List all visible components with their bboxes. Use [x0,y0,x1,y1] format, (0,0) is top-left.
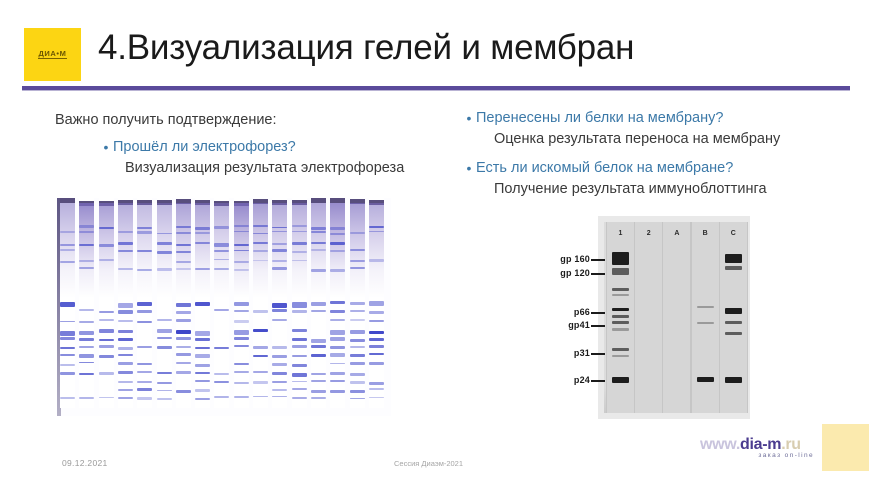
gel-band [234,310,249,312]
gel-band [253,329,268,332]
right-answer-1: Оценка результата переноса на мембрану [494,129,862,149]
diam-logo: ДИА•М [24,28,81,81]
gel-lane [272,198,287,408]
gel-band [369,345,384,348]
gel-band [292,338,307,341]
gel-band [214,396,229,397]
gel-band [137,388,152,390]
gel-lane [137,198,152,408]
gel-band [214,347,229,349]
gel-band [234,244,249,247]
gel-band [214,309,229,311]
blot-band [612,315,629,318]
gel-band [253,346,268,349]
gel-band [195,302,210,306]
gel-band [157,319,172,322]
gel-band [330,390,345,393]
gel-band [195,364,210,367]
gel-band [157,251,172,254]
gel-band [369,353,384,356]
gel-band [99,311,114,314]
gel-band [369,311,384,315]
gel-band [253,310,268,313]
gel-lane [176,198,191,408]
gel-lane [79,198,94,408]
gel-band [369,259,384,261]
gel-band [176,346,191,348]
gel-band [369,397,384,399]
gel-band [157,268,172,270]
right-question-2: Есть ли искомый белок на мембране? [476,158,733,178]
gel-band [137,227,152,229]
gel-band [60,354,75,356]
gel-band [79,362,94,364]
gel-band [118,381,133,383]
gel-band [118,242,133,245]
gel-band [292,355,307,358]
gel-band [350,267,365,270]
gel-band [369,301,384,306]
gel-band [137,302,152,306]
gel-band [79,354,94,358]
gel-band [253,355,268,358]
gel-band [234,269,249,271]
gel-band [60,364,75,366]
gel-band [176,319,191,322]
gel-band [99,372,114,374]
blot-band [697,322,714,324]
gel-band [234,337,249,340]
gel-band [350,249,365,251]
gel-band [79,267,94,269]
gel-band [157,242,172,245]
gel-band [350,362,365,365]
gel-band [369,331,384,334]
gel-band [272,309,287,313]
gel-band [195,389,210,392]
gel-band [60,347,75,350]
gel-band [311,339,326,343]
blot-marker-label: p66 [542,307,590,317]
gel-band [369,388,384,390]
gel-band [330,227,345,230]
gel-band [330,380,345,382]
gel-lane [311,198,326,408]
slide: ДИА•М 4.Визуализация гелей и мембран Важ… [0,0,869,483]
gel-band [234,396,249,398]
gel-band [330,337,345,341]
blot-band [612,348,629,351]
gel-band [330,353,345,357]
right-answer-2: Получение результата иммуноблоттинга [494,179,862,199]
blot-band [612,377,629,383]
gel-band [350,398,365,399]
gel-band [118,338,133,341]
gel-band [311,373,326,375]
gel-band [234,345,249,347]
gel-band [311,310,326,313]
gel-lane [234,198,249,408]
gel-band [157,382,172,385]
gel-band [292,225,307,228]
gel-band [137,321,152,324]
gel-band [272,260,287,262]
gel-band [176,268,191,270]
gel-band [292,329,307,332]
gel-band [137,371,152,374]
gel-band [214,381,229,383]
left-answer-1: Визуализация результата электрофореза [125,158,455,178]
left-question-1: Прошёл ли электрофорез? [113,137,296,157]
gel-band [311,242,326,244]
gel-band [350,232,365,234]
gel-band [176,232,191,233]
gel-smear [99,203,114,298]
blot-marker-leader [591,259,605,261]
gel-band [137,363,152,365]
gel-band [350,330,365,335]
blot-strip-b: B [691,222,720,413]
gel-band [350,346,365,348]
gel-band [176,251,191,254]
gel-band [157,346,172,349]
gel-band [350,302,365,306]
gel-band [292,231,307,233]
footer-date: 09.12.2021 [62,458,108,468]
blot-band [725,266,742,270]
blot-band [612,294,629,296]
gel-band [195,338,210,341]
gel-band [369,338,384,341]
gel-band [214,373,229,375]
gel-lane [330,198,345,408]
footer-sitename: dia-m [740,436,781,453]
gel-band [330,233,345,235]
gel-band [79,231,94,233]
gel-band [253,260,268,262]
gel-band [118,397,133,399]
gel-band [118,310,133,313]
gel-band [369,320,384,322]
blot-band [725,377,742,383]
gel-band [118,330,133,333]
gel-band [79,338,94,341]
gel-band [60,372,75,375]
blot-band [612,268,629,275]
blot-marker-leader [591,273,605,275]
blot-band [612,308,629,311]
gel-band [350,354,365,357]
gel-band [79,244,94,246]
gel-smear [79,203,94,298]
gel-band [350,381,365,383]
gel-band [79,225,94,228]
diam-logo-text: ДИА•М [38,50,66,60]
gel-band [195,331,210,336]
gel-band [330,319,345,322]
gel-band [272,396,287,397]
gel-band [137,231,152,233]
blot-strip-a: A [662,222,691,413]
gel-band [311,231,326,233]
left-bullet-item-1: • Прошёл ли электрофорез? [99,137,455,157]
gel-band [79,321,94,323]
gel-lane [157,198,172,408]
footer-www: www. [700,436,740,453]
gel-band [60,244,75,247]
gel-band [234,382,249,384]
gel-lane [60,198,75,408]
gel-band [350,390,365,393]
gel-band [79,260,94,263]
blot-image: 12ABC [598,216,750,419]
gel-band [234,371,249,373]
blot-lane-label: B [692,230,719,237]
blot-marker-leader [591,312,605,314]
gel-band [60,397,75,399]
left-lead-text: Важно получить подтверждение: [55,112,455,128]
gel-band [99,355,114,358]
gel-band [79,331,94,335]
gel-band [60,331,75,336]
blot-band [725,332,742,335]
gel-band [195,398,210,401]
gel-band [311,380,326,382]
gel-band [311,354,326,357]
gel-band [137,381,152,383]
gel-band [234,225,249,228]
blot-lane-label: C [720,230,747,237]
gel-band [118,320,133,322]
gel-band [311,227,326,230]
gel-band [330,330,345,335]
gel-band [118,303,133,308]
blot-band [725,321,742,324]
gel-band [330,372,345,375]
gel-band [311,390,326,393]
gel-band [272,267,287,270]
gel-band [311,269,326,272]
gel-band [99,397,114,398]
gel-band [137,269,152,271]
gel-band [60,302,75,307]
gel-band [369,231,384,233]
gel-band [369,382,384,385]
gel-band [311,249,326,251]
gel-band [79,309,94,312]
gel-band [99,329,114,333]
gel-band [118,362,133,364]
gel-band [99,345,114,348]
gel-band [176,353,191,356]
gel-band [369,362,384,365]
gel-band [253,225,268,228]
blot-band [697,377,714,382]
gel-band [195,372,210,374]
blot-lane-label: A [663,230,690,237]
gel-band [157,372,172,374]
page-title: 4.Визуализация гелей и мембран [98,28,634,68]
right-question-1: Перенесены ли белки на мембрану? [476,108,723,128]
gel-band [118,250,133,252]
blot-marker-leader [591,353,605,355]
gel-band [330,363,345,365]
blot-strip-2: 2 [634,222,663,413]
blot-lane-label: 2 [635,230,662,237]
gel-lane [292,198,307,408]
gel-band [292,242,307,245]
blot-strip-1: 1 [606,222,635,413]
blot-lane-label: 1 [607,230,634,237]
gel-band [99,319,114,321]
gel-band [292,381,307,382]
gel-band [311,302,326,305]
footer-site-logo[interactable]: www.dia-m.ru заказ on-line [700,436,820,462]
right-bullet-item-1: • Перенесены ли белки на мембрану? [462,108,862,128]
bullet-dot-icon: • [99,137,113,157]
gel-band [292,345,307,348]
header-divider-shadow [22,90,850,91]
gel-band [176,371,191,374]
bullet-dot-icon: • [462,108,476,128]
gel-band [350,319,365,321]
gel-lane [195,198,210,408]
gel-band [272,346,287,349]
gel-lane [99,198,114,408]
gel-band [234,320,249,323]
gel-band [157,337,172,340]
gel-image [55,196,395,418]
blot-band [612,288,629,291]
gel-band [292,388,307,390]
gel-band [234,363,249,365]
gel-band [195,242,210,245]
gel-band [272,355,287,358]
gel-band [214,250,229,252]
gel-band [272,303,287,308]
blot-band [612,328,629,331]
gel-band [60,337,75,339]
gel-band [99,227,114,229]
gel-canvas [57,198,391,416]
gel-band [60,249,75,252]
gel-band [272,381,287,384]
gel-band [292,364,307,367]
blot-marker-label: p31 [542,348,590,358]
gel-band [253,250,268,252]
gel-band [214,268,229,271]
gel-band [350,310,365,313]
gel-band [195,227,210,230]
gel-band [118,371,133,374]
gel-band [272,363,287,365]
gel-band [253,242,268,244]
gel-band [176,362,191,364]
gel-band [272,372,287,375]
footer-session: Сессия Диаэм-2021 [394,459,463,468]
gel-band [176,311,191,314]
blot-band [612,252,629,265]
left-text-column: Важно получить подтверждение: • Прошёл л… [55,112,455,187]
footer-tld: .ru [781,436,801,453]
gel-band [79,373,94,375]
gel-band [79,397,94,399]
blot-marker-label: gp 120 [542,268,590,278]
blot-strip-c: C [719,222,748,413]
gel-band [99,244,114,247]
bullet-dot-icon: • [462,158,476,178]
blot-band [612,355,629,357]
gel-band [60,321,75,323]
gel-band [195,354,210,357]
gel-band [234,330,249,334]
gel-band [292,373,307,377]
gel-band [176,390,191,393]
gel-band [272,227,287,229]
blot-band [612,321,629,324]
gel-band [330,242,345,245]
right-text-column: • Перенесены ли белки на мембрану? Оценк… [462,108,862,208]
gel-band [195,232,210,233]
gel-band [176,244,191,246]
gel-band [214,243,229,247]
gel-band [79,346,94,349]
gel-smear [369,203,384,298]
gel-band [272,319,287,321]
gel-band [330,250,345,252]
gel-lane [369,198,384,408]
gel-band [118,268,133,270]
gel-band [330,346,345,349]
gel-band [350,339,365,343]
gel-band [195,347,210,349]
gel-band [330,310,345,313]
gel-band [234,261,249,263]
gel-band [118,347,133,350]
gel-lane [350,198,365,408]
footer-yellow-accent [822,424,869,471]
gel-band [214,226,229,229]
blot-marker-label: gp41 [542,320,590,330]
gel-lane [214,198,229,408]
blot-canvas: 12ABC [604,222,744,413]
gel-band [176,261,191,262]
gel-band [118,354,133,356]
gel-band [292,310,307,313]
blot-marker-leader [591,380,605,382]
blot-marker-leader [591,325,605,327]
gel-band [272,249,287,251]
gel-band [330,269,345,272]
gel-band [137,397,152,399]
gel-smear [195,203,210,298]
blot-marker-label: gp 160 [542,254,590,264]
gel-band [292,302,307,307]
gel-band [118,389,133,391]
gel-band [311,345,326,348]
gel-band [350,373,365,376]
gel-band [176,303,191,307]
gel-band [195,380,210,382]
blot-marker-label: p24 [542,375,590,385]
right-bullet-item-2: • Есть ли искомый белок на мембране? [462,158,862,178]
gel-band [99,259,114,261]
gel-band [137,346,152,349]
blot-band [725,308,742,314]
gel-band [176,330,191,334]
gel-band [157,390,172,392]
gel-band [157,329,172,332]
